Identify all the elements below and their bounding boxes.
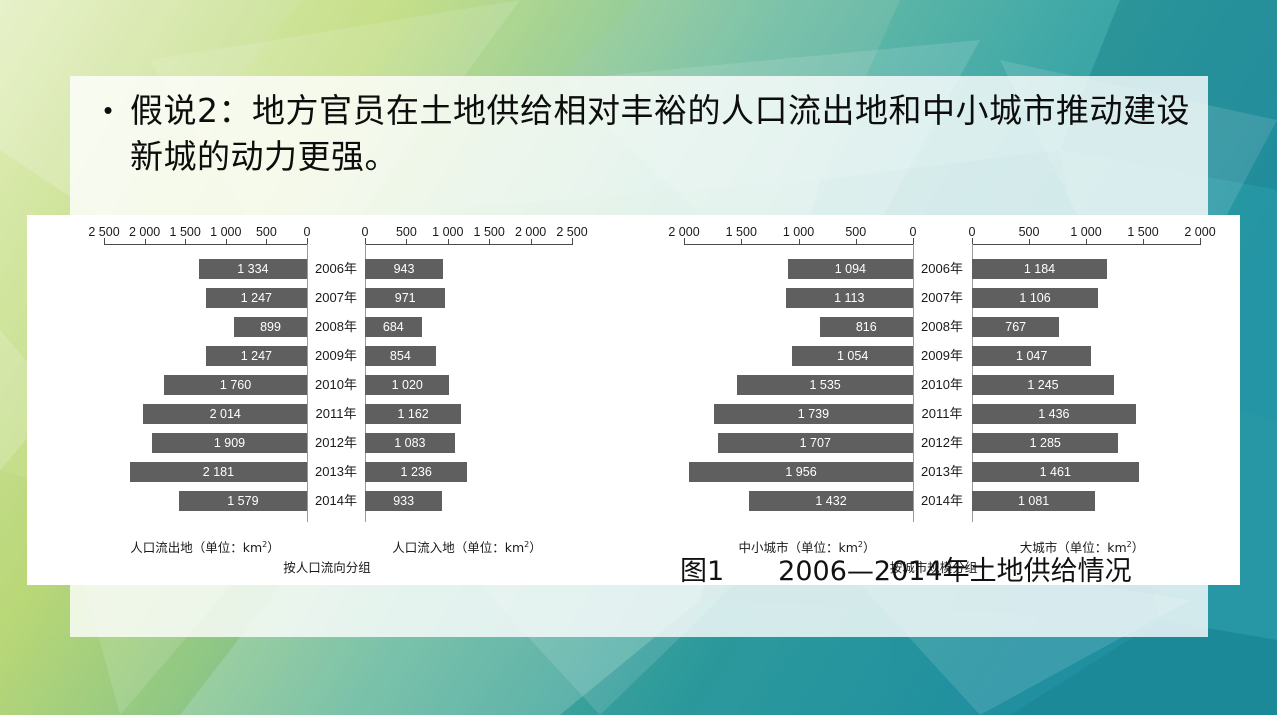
axis-tick [684,238,685,245]
chart-row: 1 4322014年1 081 [627,487,1240,515]
bar-right: 1 162 [365,404,461,424]
bar-left: 1 739 [714,404,913,424]
bar-right: 1 047 [972,346,1091,366]
bar-left: 1 113 [786,288,913,308]
axis-tick-label: 1 000 [1070,225,1101,239]
bar-right: 684 [365,317,422,337]
chart-row: 2 1812013年1 236 [27,458,627,486]
year-label: 2007年 [307,288,365,308]
figure-title: 图1 2006—2014年土地供给情况 [680,549,1132,588]
axis-tick-label: 2 000 [668,225,699,239]
axis-tick [266,239,267,244]
bar-right: 1 236 [365,462,467,482]
axis-tick-label: 0 [969,225,976,239]
axis-tick-label: 500 [256,225,277,239]
axis-tick [1143,239,1144,244]
bar-left: 2 014 [143,404,307,424]
axis-tick-label: 500 [396,225,417,239]
bar-left: 1 909 [152,433,307,453]
year-label: 2010年 [307,375,365,395]
axis-tick [406,239,407,244]
axis-tick [856,239,857,244]
chart-row: 1 2472009年854 [27,342,627,370]
axis-tick [799,239,800,244]
year-label: 2012年 [307,433,365,453]
axis-tick-label: 2 500 [88,225,119,239]
axis-tick [145,239,146,244]
bar-right: 943 [365,259,443,279]
axis-tick-label: 1 500 [1127,225,1158,239]
bar-left: 1 760 [164,375,307,395]
axis-tick [1086,239,1087,244]
year-label: 2014年 [307,491,365,511]
chart-row: 1 7392011年1 436 [627,400,1240,428]
bullet-heading: • 假说2：地方官员在土地供给相对丰裕的人口流出地和中小城市推动建设新城的动力更… [86,88,1196,180]
hypothesis-text: 假说2：地方官员在土地供给相对丰裕的人口流出地和中小城市推动建设新城的动力更强。 [130,88,1196,180]
axis-tick-label: 0 [910,225,917,239]
axis-tick-labels-left: 2 5002 0001 5001 000500005001 0001 5002 … [27,225,627,241]
axis-tick-label: 500 [845,225,866,239]
chart-row: 1 2472007年971 [27,284,627,312]
bar-left: 1 054 [792,346,913,366]
bar-right: 971 [365,288,445,308]
chart-row: 1 0942006年1 184 [627,255,1240,283]
axis-line-left [684,244,914,245]
bar-left: 1 094 [788,259,913,279]
year-label: 2012年 [913,433,971,453]
chart-row: 1 0542009年1 047 [627,342,1240,370]
axis-tick-label: 0 [304,225,311,239]
axis-tick-label: 1 500 [170,225,201,239]
year-label: 2013年 [913,462,971,482]
axis-tick-labels-left: 2 0001 5001 000500005001 0001 5002 000 [627,225,1240,241]
chart-row: 1 7072012年1 285 [627,429,1240,457]
bar-right: 1 106 [972,288,1098,308]
figure-panel: 2 5002 0001 5001 000500005001 0001 5002 … [27,215,1240,585]
chart-row: 1 3342006年943 [27,255,627,283]
bar-left: 816 [820,317,913,337]
bar-left: 1 535 [737,375,913,395]
bar-right: 1 285 [972,433,1118,453]
bar-left: 2 181 [130,462,307,482]
chart-row: 8992008年684 [27,313,627,341]
axis-tick-label: 1 000 [210,225,241,239]
axis-tick-label: 2 000 [1184,225,1215,239]
chart-city-size: 2 0001 5001 000500005001 0001 5002 0001 … [627,215,1240,585]
bar-left: 1 579 [179,491,307,511]
axis-tick-label: 1 000 [432,225,463,239]
axis-tick [226,239,227,244]
bar-right: 1 020 [365,375,449,395]
chart-row: 1 1132007年1 106 [627,284,1240,312]
year-label: 2011年 [307,404,365,424]
bar-right: 1 245 [972,375,1114,395]
chart-row: 1 5792014年933 [27,487,627,515]
chart-group-title: 按人口流向分组 [27,557,627,576]
bar-right: 854 [365,346,436,366]
axis-tick [448,239,449,244]
axis-tick-label: 2 500 [556,225,587,239]
bar-right: 1 461 [972,462,1139,482]
year-label: 2009年 [913,346,971,366]
axis-tick [104,238,105,245]
axis-line-right [972,244,1201,245]
axis-tick [572,238,573,245]
axis-tick-label: 2 000 [515,225,546,239]
chart-population-flow: 2 5002 0001 5001 000500005001 0001 5002 … [27,215,627,585]
axis-tick-label: 1 000 [783,225,814,239]
chart-row: 1 7602010年1 020 [27,371,627,399]
axis-tick [741,239,742,244]
axis-tick-label: 1 500 [474,225,505,239]
chart-row: 1 9562013年1 461 [627,458,1240,486]
year-label: 2010年 [913,375,971,395]
chart-row: 1 9092012年1 083 [27,429,627,457]
series-caption-left: 人口流出地（单位：km2） [115,537,295,556]
year-label: 2006年 [307,259,365,279]
axis-tick [1029,239,1030,244]
year-label: 2009年 [307,346,365,366]
axis-tick [489,239,490,244]
axis-tick [185,239,186,244]
year-label: 2014年 [913,491,971,511]
year-label: 2008年 [307,317,365,337]
bar-left: 1 247 [206,346,307,366]
bar-left: 1 707 [718,433,913,453]
axis-tick [531,239,532,244]
axis-tick-label: 500 [1019,225,1040,239]
year-label: 2008年 [913,317,971,337]
bar-left: 1 247 [206,288,307,308]
bar-right: 1 436 [972,404,1136,424]
bar-right: 1 081 [972,491,1095,511]
chart-row: 2 0142011年1 162 [27,400,627,428]
year-label: 2011年 [913,404,971,424]
bar-left: 1 334 [199,259,307,279]
year-label: 2013年 [307,462,365,482]
chart-row: 1 5352010年1 245 [627,371,1240,399]
bar-left: 1 956 [689,462,913,482]
axis-tick-label: 0 [362,225,369,239]
axis-line-right [365,244,573,245]
year-label: 2006年 [913,259,971,279]
bullet-marker-icon: • [86,88,130,132]
bar-left: 1 432 [749,491,913,511]
axis-tick-label: 1 500 [726,225,757,239]
series-caption-right: 人口流入地（单位：km2） [377,537,557,556]
bar-left: 899 [234,317,307,337]
axis-line-left [104,244,308,245]
bar-right: 767 [972,317,1059,337]
chart-row: 8162008年767 [627,313,1240,341]
bar-right: 1 083 [365,433,455,453]
bar-right: 933 [365,491,442,511]
year-label: 2007年 [913,288,971,308]
axis-tick-label: 2 000 [129,225,160,239]
bar-right: 1 184 [972,259,1107,279]
axis-tick [1200,238,1201,245]
